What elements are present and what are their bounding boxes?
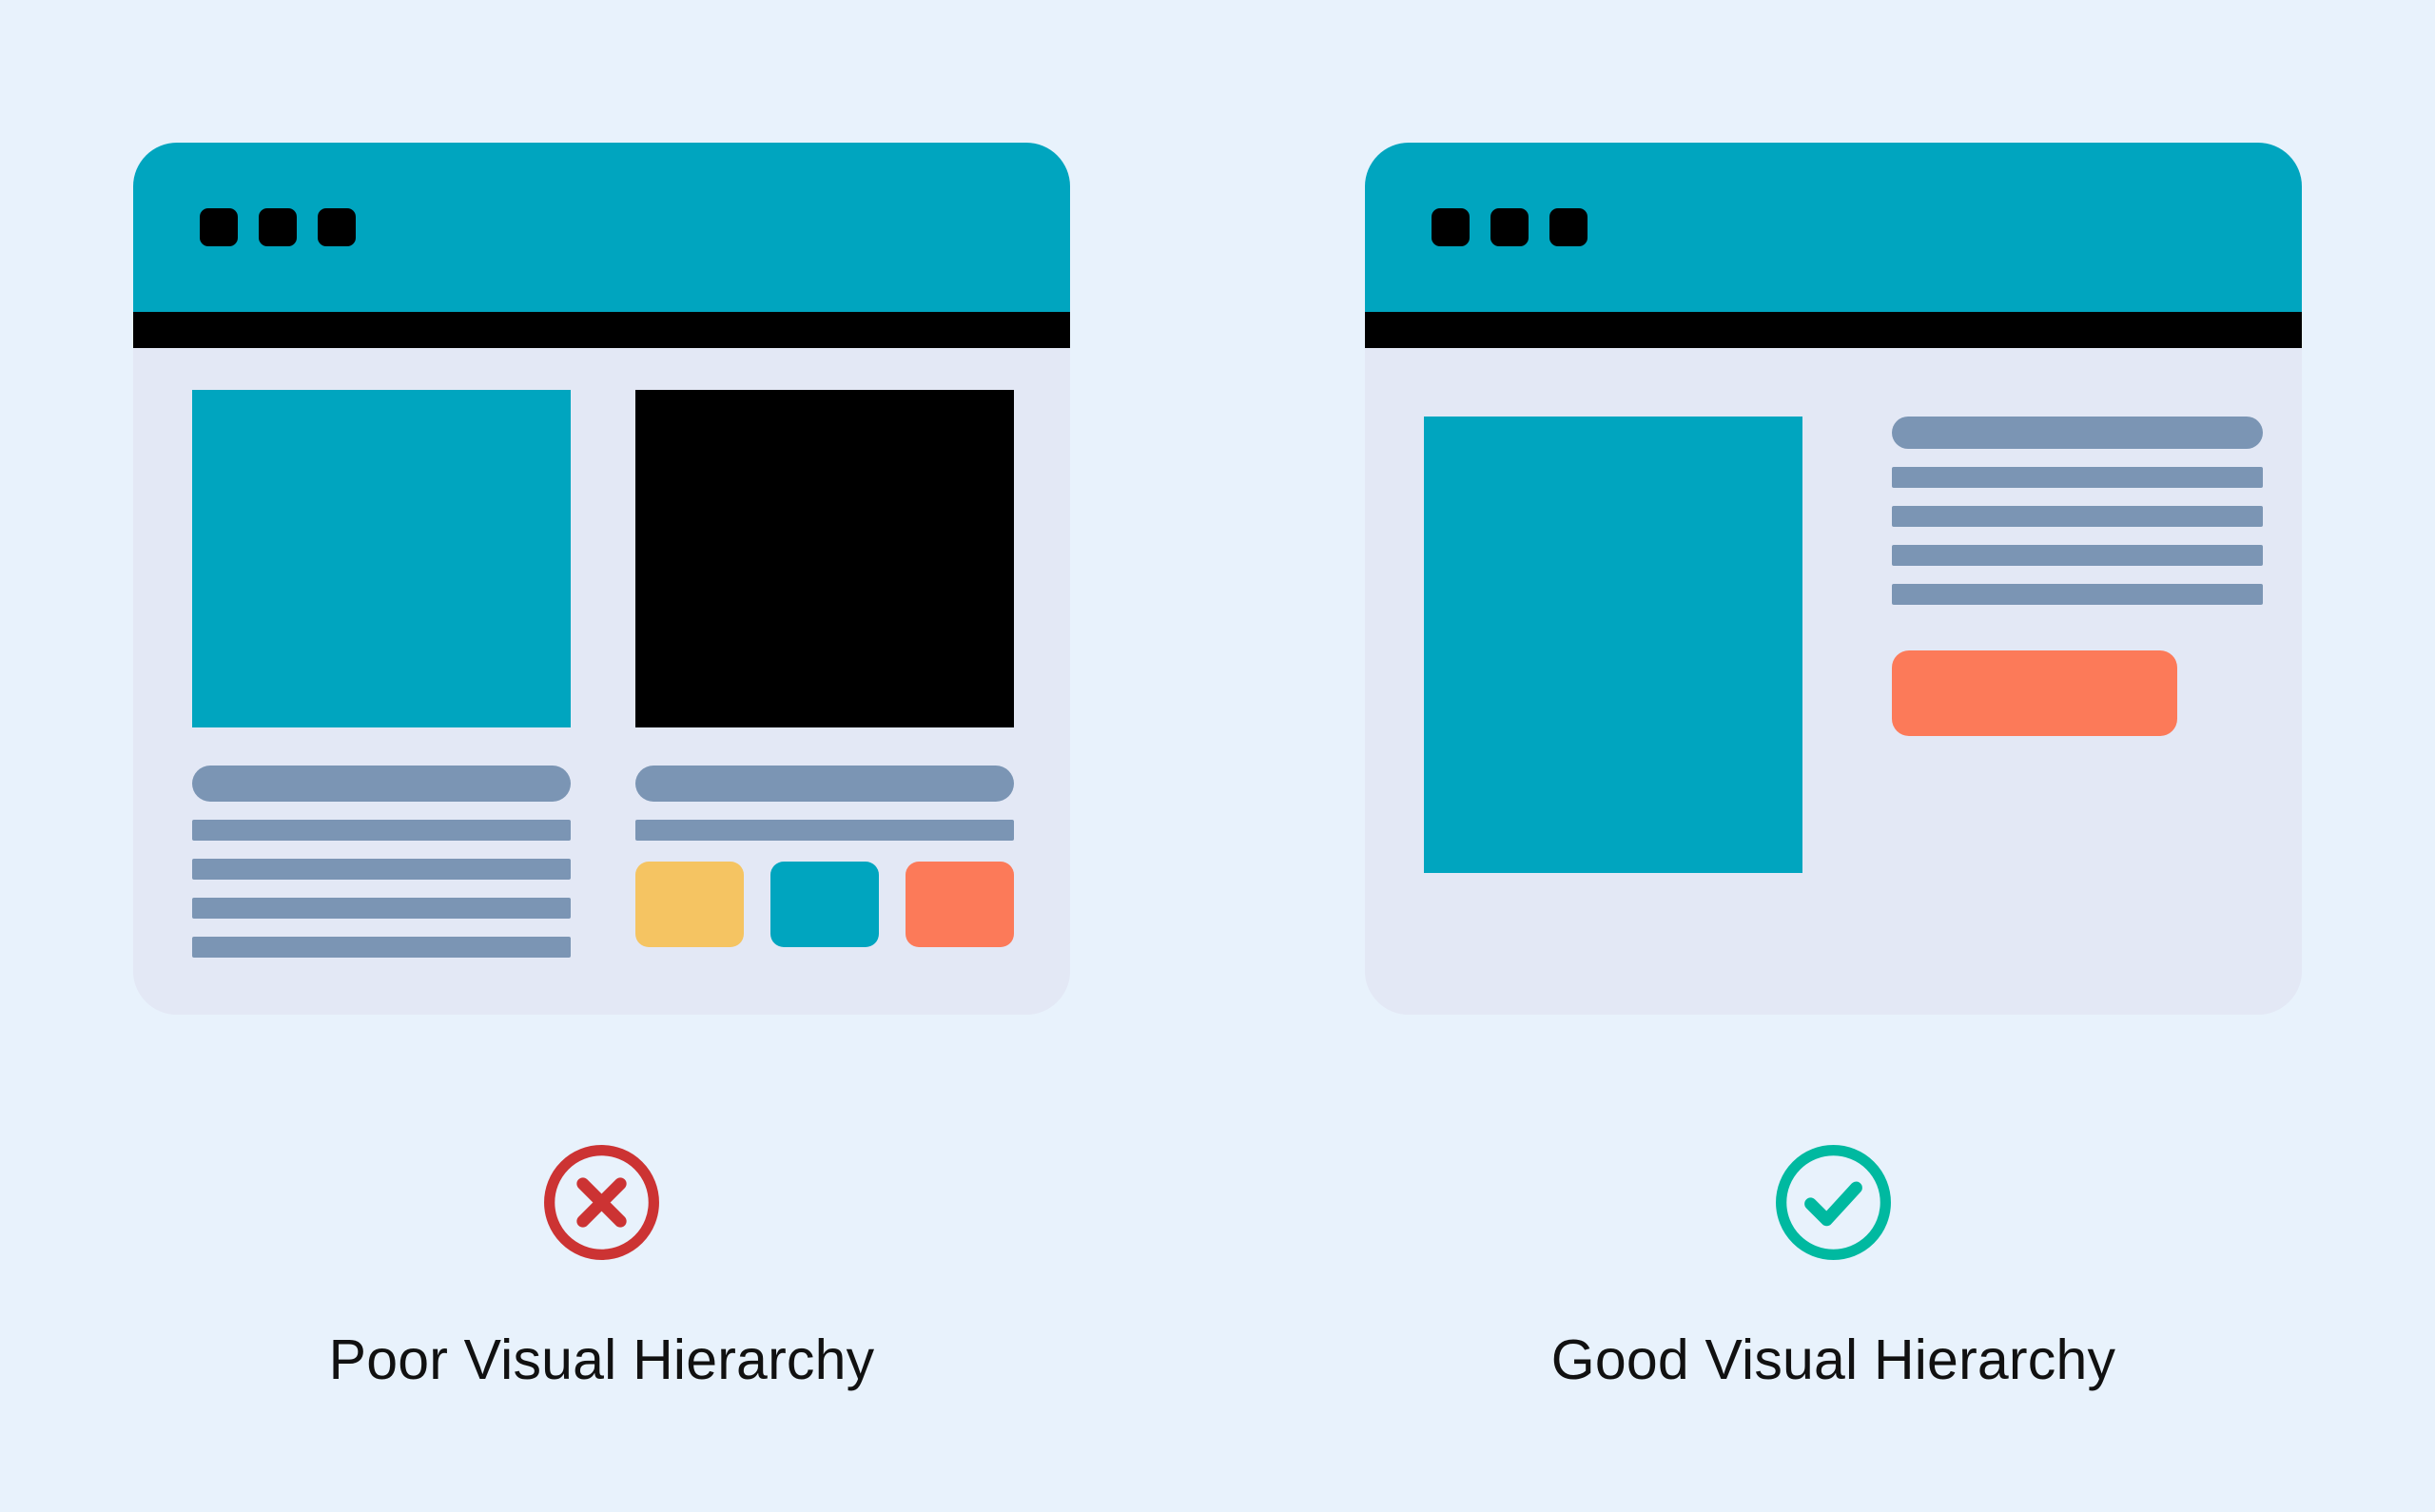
good-text-lines: [1892, 417, 2263, 605]
window-controls-good: [1432, 208, 1588, 246]
poor-right-text-lines: [635, 766, 1014, 841]
good-content-grid: [1424, 417, 2243, 973]
caption-poor: Poor Visual Hierarchy: [329, 1328, 875, 1392]
button-orange[interactable]: [906, 862, 1014, 947]
poor-left-image-placeholder: [192, 390, 571, 727]
button-teal[interactable]: [770, 862, 879, 947]
panel-good-visual-hierarchy: Good Visual Hierarchy: [1365, 143, 2302, 1392]
poor-right-image-placeholder: [635, 390, 1014, 727]
poor-left-text-line-5: [192, 937, 571, 958]
caption-good: Good Visual Hierarchy: [1551, 1328, 2115, 1392]
visual-hierarchy-comparison-board: Poor Visual Hierarchy: [0, 0, 2435, 1512]
poor-right-text-line-1: [635, 766, 1014, 802]
window-dot-3-icon[interactable]: [318, 208, 356, 246]
good-hero-image-placeholder: [1424, 417, 1802, 873]
window-dot-3-icon[interactable]: [1549, 208, 1588, 246]
poor-left-text-line-4: [192, 898, 571, 919]
browser-mockup-poor: [133, 143, 1070, 1015]
panel-poor-visual-hierarchy: Poor Visual Hierarchy: [133, 143, 1070, 1392]
good-text-line-4: [1892, 545, 2263, 566]
window-dot-1-icon[interactable]: [1432, 208, 1470, 246]
good-text-line-2: [1892, 467, 2263, 488]
browser-addressbar-good[interactable]: [1365, 312, 2302, 348]
poor-content-grid: [192, 390, 1011, 973]
window-controls-poor: [200, 208, 356, 246]
primary-cta-button[interactable]: [1892, 650, 2177, 736]
poor-left-text-line-2: [192, 820, 571, 841]
circle-x-icon: [537, 1138, 666, 1267]
poor-left-text-line-1: [192, 766, 571, 802]
window-dot-1-icon[interactable]: [200, 208, 238, 246]
button-yellow[interactable]: [635, 862, 744, 947]
good-right-column: [1892, 417, 2263, 736]
browser-content-poor: [133, 348, 1070, 1015]
poor-left-text-lines: [192, 766, 571, 958]
poor-right-column: [635, 390, 1014, 947]
poor-right-text-line-2: [635, 820, 1014, 841]
browser-titlebar-good: [1365, 143, 2302, 312]
circle-check-icon: [1769, 1138, 1898, 1267]
good-text-line-3: [1892, 506, 2263, 527]
browser-titlebar-poor: [133, 143, 1070, 312]
poor-left-column: [192, 390, 571, 958]
poor-left-text-line-3: [192, 859, 571, 880]
browser-mockup-good: [1365, 143, 2302, 1015]
window-dot-2-icon[interactable]: [259, 208, 297, 246]
browser-content-good: [1365, 348, 2302, 1015]
browser-addressbar-poor[interactable]: [133, 312, 1070, 348]
poor-button-row: [635, 862, 1014, 947]
window-dot-2-icon[interactable]: [1490, 208, 1529, 246]
good-text-line-5: [1892, 584, 2263, 605]
good-text-line-1: [1892, 417, 2263, 449]
